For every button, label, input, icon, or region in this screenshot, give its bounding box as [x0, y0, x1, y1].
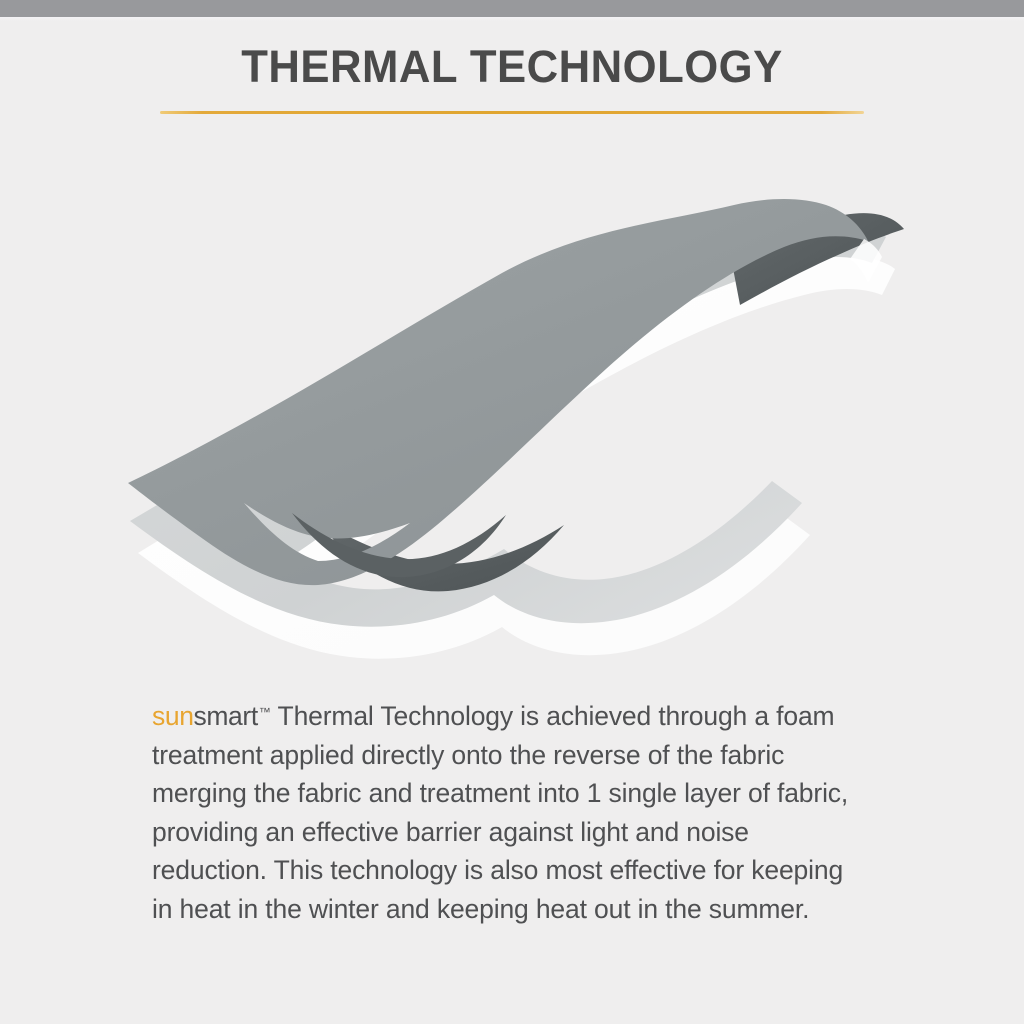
brand-smart-text: smart — [194, 701, 258, 731]
page-header: THERMAL TECHNOLOGY — [160, 43, 864, 114]
description-paragraph: sunsmart™ Thermal Technology is achieved… — [152, 693, 868, 928]
sunsmart-logotype: sunsmart™ — [152, 701, 271, 731]
window-chrome-bar — [0, 0, 1024, 17]
brand-sun-text: sun — [152, 701, 194, 731]
content-page: THERMAL TECHNOLOGY — [0, 21, 1024, 1024]
body-copy-block: sunsmart™ Thermal Technology is achieved… — [152, 693, 868, 928]
trademark-symbol: ™ — [258, 705, 271, 719]
page-title: THERMAL TECHNOLOGY — [171, 43, 854, 90]
fabric-swatch-icon — [120, 191, 910, 671]
description-text: Thermal Technology is achieved through a… — [152, 701, 848, 924]
layered-fabric-illustration — [120, 191, 910, 671]
title-underline-rule — [160, 111, 864, 114]
